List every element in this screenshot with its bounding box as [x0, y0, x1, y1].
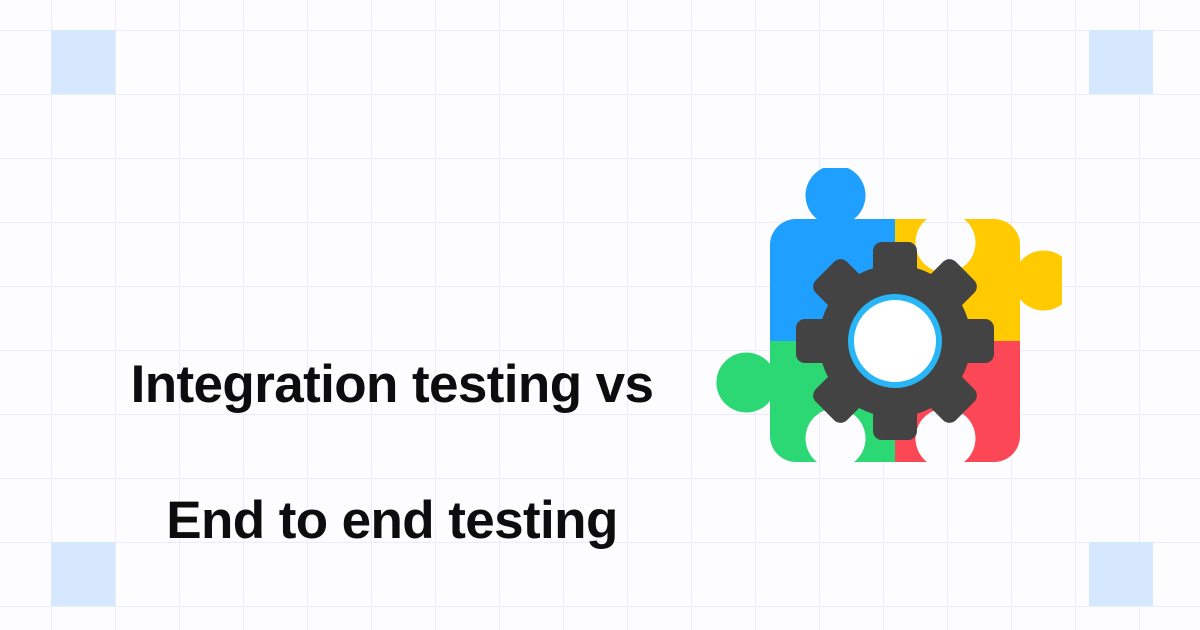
page-title-line-2: End to end testing: [72, 487, 712, 555]
grid-highlight-bottom-right: [1089, 542, 1153, 606]
page-title: Integration testing vs End to end testin…: [72, 284, 712, 623]
puzzle-gear-illustration: [716, 168, 1062, 498]
gear-icon: [796, 242, 994, 440]
page-title-line-1: Integration testing vs: [72, 351, 712, 419]
grid-highlight-top-left: [51, 30, 115, 94]
og-image-canvas: Integration testing vs End to end testin…: [0, 0, 1200, 630]
grid-highlight-top-right: [1089, 30, 1153, 94]
